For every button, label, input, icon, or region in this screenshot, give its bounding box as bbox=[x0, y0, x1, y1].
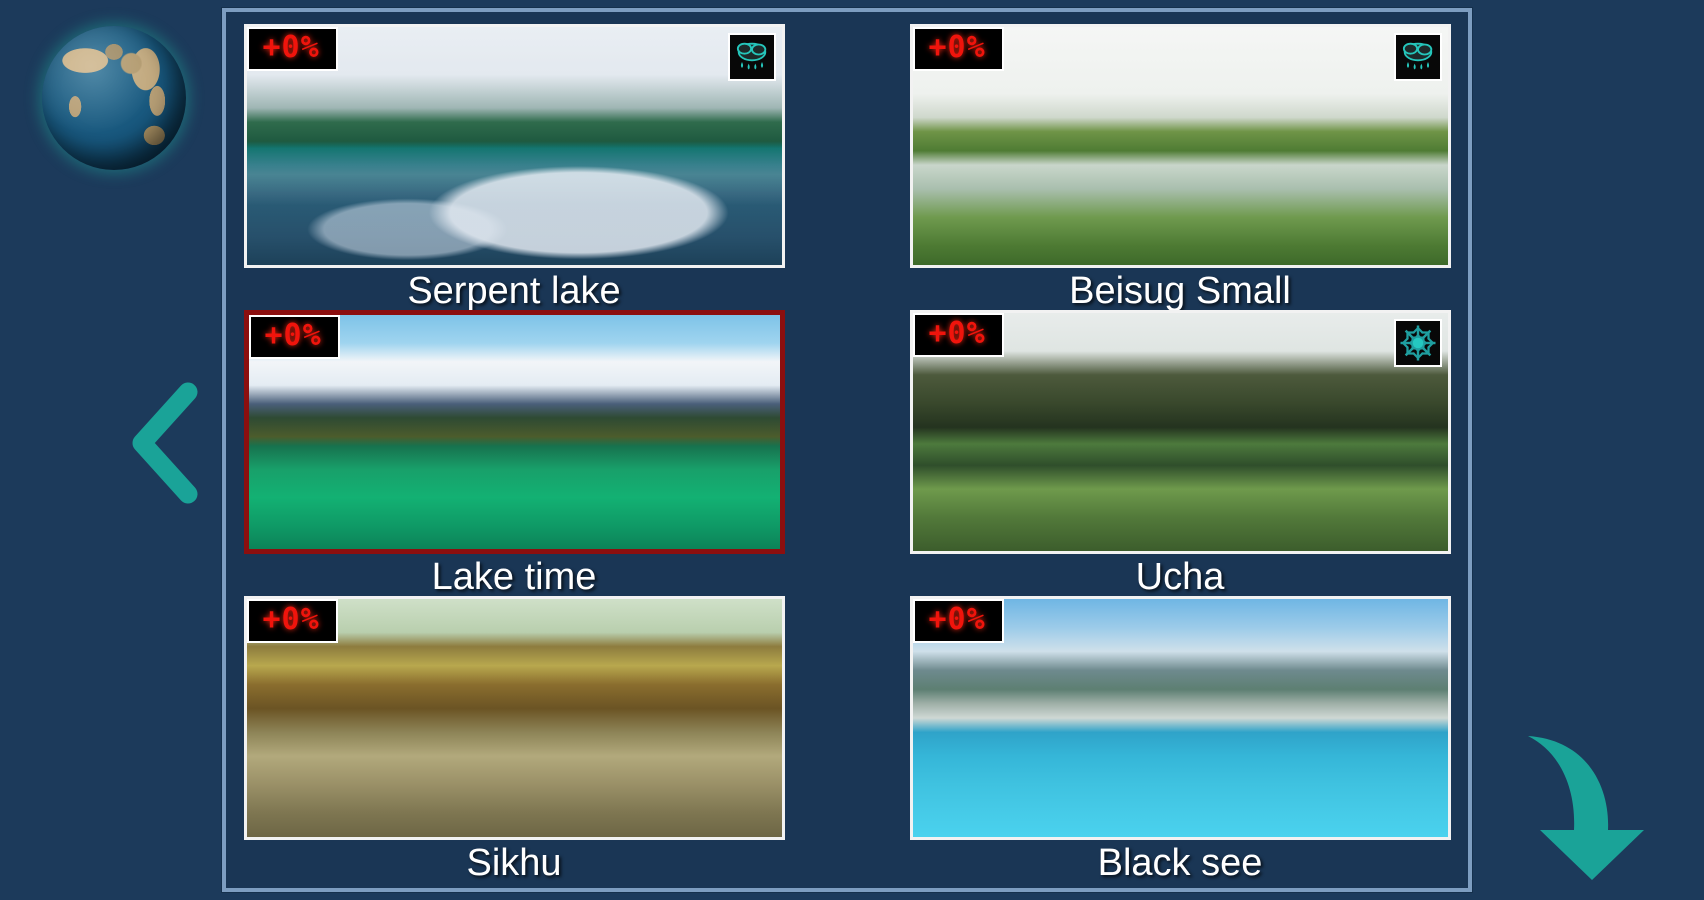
snowflake-icon-button[interactable] bbox=[1394, 319, 1442, 367]
bonus-badge: +0% bbox=[247, 599, 338, 643]
earth-globe-button[interactable] bbox=[42, 26, 186, 170]
rain-cloud-icon bbox=[1398, 37, 1438, 77]
lake-title: Black see bbox=[1098, 844, 1263, 882]
lake-title: Serpent lake bbox=[407, 272, 620, 310]
lake-thumbnail[interactable]: +0% bbox=[244, 310, 785, 554]
lake-card-lake-time[interactable]: +0% Lake time bbox=[240, 310, 788, 596]
chevron-left-icon bbox=[122, 378, 202, 508]
lake-card-beisug-small[interactable]: +0% Beisug Small bbox=[906, 24, 1454, 310]
rain-cloud-icon-button[interactable] bbox=[1394, 33, 1442, 81]
rain-cloud-icon-button[interactable] bbox=[728, 33, 776, 81]
curved-arrow-down-icon bbox=[1518, 718, 1668, 886]
bonus-badge: +0% bbox=[247, 27, 338, 71]
lake-title: Beisug Small bbox=[1069, 272, 1291, 310]
lake-thumbnail[interactable]: +0% bbox=[910, 24, 1451, 268]
bonus-badge: +0% bbox=[913, 313, 1004, 357]
app-root: +0% Serpent lake +0% Beisug Small +0% La… bbox=[0, 0, 1704, 900]
lake-card-serpent-lake[interactable]: +0% Serpent lake bbox=[240, 24, 788, 310]
lakes-panel: +0% Serpent lake +0% Beisug Small +0% La… bbox=[222, 8, 1472, 892]
rain-cloud-icon bbox=[732, 37, 772, 77]
lake-thumbnail[interactable]: +0% bbox=[910, 596, 1451, 840]
lake-card-sikhu[interactable]: +0% Sikhu bbox=[240, 596, 788, 882]
lake-title: Ucha bbox=[1136, 558, 1225, 596]
lake-thumbnail[interactable]: +0% bbox=[244, 24, 785, 268]
lake-card-black-see[interactable]: +0% Black see bbox=[906, 596, 1454, 882]
lake-thumbnail[interactable]: +0% bbox=[244, 596, 785, 840]
bonus-badge: +0% bbox=[913, 599, 1004, 643]
bonus-badge: +0% bbox=[913, 27, 1004, 71]
lake-thumbnail[interactable]: +0% bbox=[910, 310, 1451, 554]
bonus-badge: +0% bbox=[249, 315, 340, 359]
earth-globe-icon bbox=[42, 26, 186, 170]
lake-title: Lake time bbox=[432, 558, 597, 596]
lakes-grid: +0% Serpent lake +0% Beisug Small +0% La… bbox=[240, 24, 1454, 880]
prev-page-button[interactable] bbox=[122, 378, 202, 508]
lake-title: Sikhu bbox=[466, 844, 561, 882]
lake-card-ucha[interactable]: +0% bbox=[906, 310, 1454, 596]
next-page-button[interactable] bbox=[1518, 718, 1668, 886]
snowflake-icon bbox=[1397, 322, 1439, 364]
